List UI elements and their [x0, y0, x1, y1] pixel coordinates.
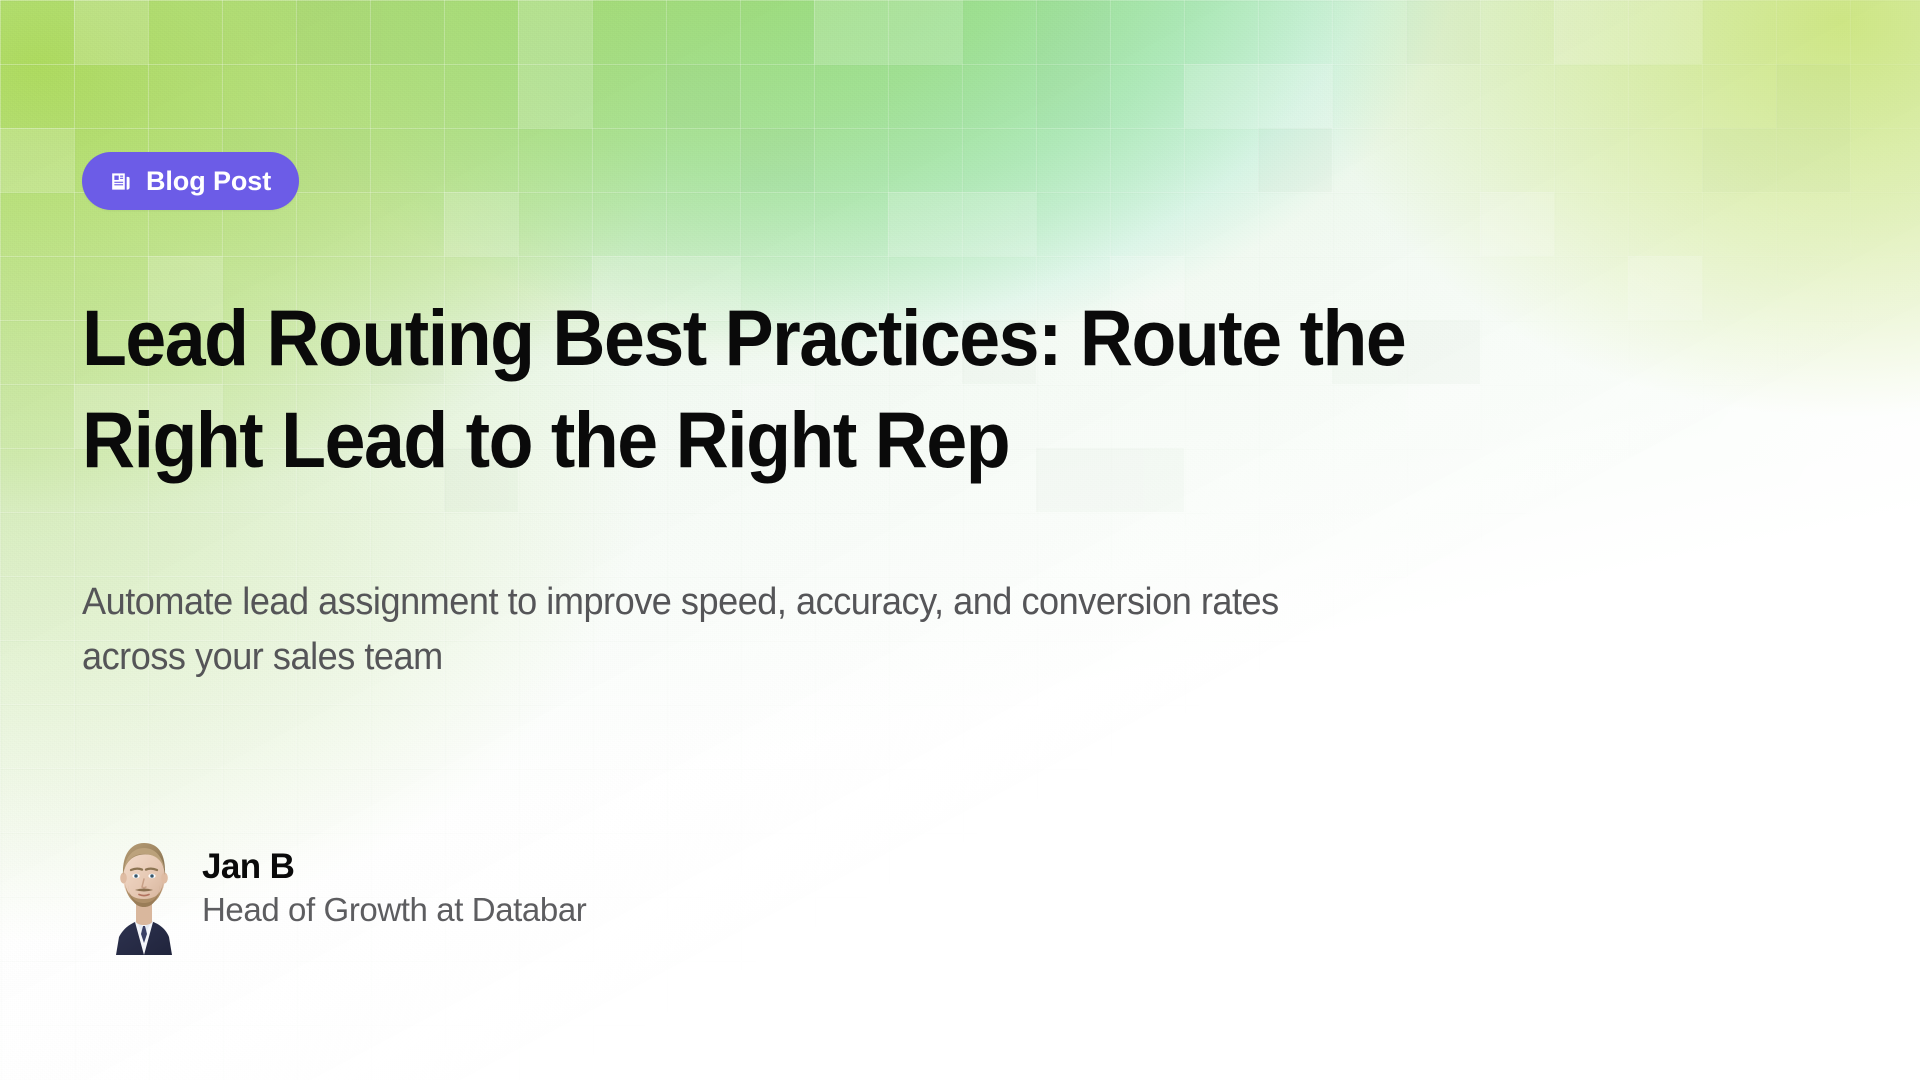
newspaper-icon — [108, 169, 133, 194]
author-role: Head of Growth at Databar — [202, 889, 586, 932]
avatar — [110, 825, 178, 955]
page-subtitle: Automate lead assignment to improve spee… — [82, 575, 1298, 684]
hero-content: Blog Post Lead Routing Best Practices: R… — [82, 0, 1642, 1080]
badge-label: Blog Post — [146, 168, 271, 195]
author-text: Jan B Head of Growth at Databar — [202, 846, 586, 935]
author-name: Jan B — [202, 846, 586, 889]
blog-post-hero: Blog Post Lead Routing Best Practices: R… — [0, 0, 1920, 1080]
content-type-badge[interactable]: Blog Post — [82, 152, 299, 210]
page-title: Lead Routing Best Practices: Route the R… — [82, 287, 1477, 491]
author-block: Jan B Head of Growth at Databar — [110, 825, 586, 955]
